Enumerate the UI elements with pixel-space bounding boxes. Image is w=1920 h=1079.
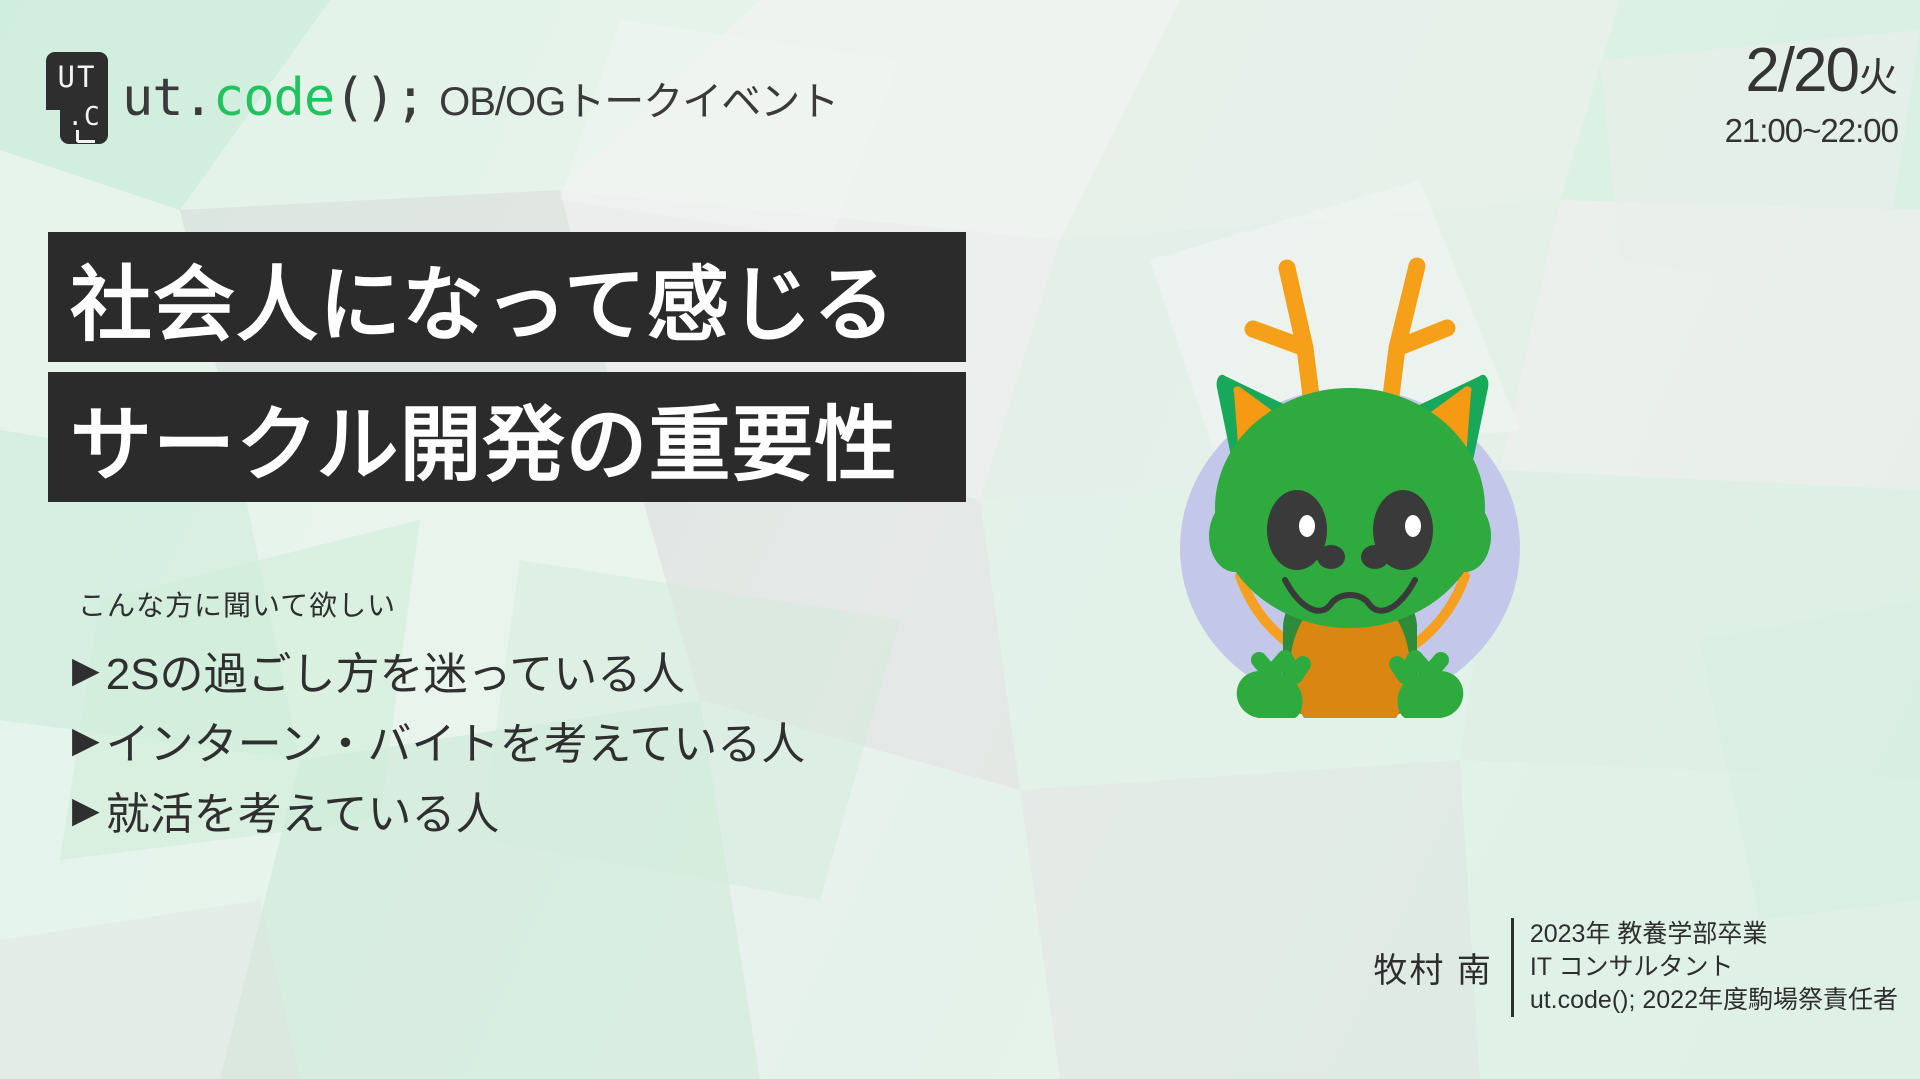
brand-name-accent: code	[213, 68, 334, 128]
speaker-divider	[1511, 918, 1514, 1017]
triangle-bullet-icon: ▶	[72, 652, 100, 688]
list-item: ▶ 就活を考えている人	[72, 778, 805, 842]
brand-title: ut. code (); OB/OGトークイベント	[122, 68, 838, 128]
brand-name-suffix: ();	[334, 68, 425, 128]
list-item: ▶ 2Sの過ごし方を迷っている人	[72, 638, 805, 702]
triangle-bullet-icon: ▶	[72, 792, 100, 828]
brand-name-prefix: ut.	[122, 68, 213, 128]
speaker-details: 2023年 教養学部卒業 IT コンサルタント ut.code(); 2022年…	[1530, 918, 1898, 1017]
speaker-name: 牧村 南	[1373, 943, 1510, 992]
title-line-2: サークル開発の重要性	[48, 372, 966, 502]
logo-tail-icon	[76, 130, 95, 143]
title-line-1: 社会人になって感じる	[48, 232, 966, 362]
speaker-detail-line: ut.code(); 2022年度駒場祭責任者	[1530, 984, 1898, 1017]
list-item: ▶ インターン・バイトを考えている人	[72, 708, 805, 772]
event-time: 21:00~22:00	[1725, 111, 1898, 151]
speaker-detail-line: IT コンサルタント	[1530, 951, 1898, 984]
speaker-detail-line: 2023年 教養学部卒業	[1530, 918, 1898, 951]
list-item-label: インターン・バイトを考えている人	[106, 708, 806, 772]
event-date-block: 2/20火 21:00~22:00	[1725, 38, 1898, 151]
dragon-mascot-icon	[1135, 198, 1555, 718]
audience-bullet-list: ▶ 2Sの過ごし方を迷っている人 ▶ インターン・バイトを考えている人 ▶ 就活…	[72, 638, 805, 842]
list-item-label: 就活を考えている人	[106, 778, 500, 842]
event-date-line: 2/20火	[1725, 38, 1898, 111]
brand-header: UT .C ut. code (); OB/OGトークイベント	[46, 52, 838, 144]
speaker-credit: 牧村 南 2023年 教養学部卒業 IT コンサルタント ut.code(); …	[1373, 918, 1898, 1017]
event-weekday: 火	[1858, 56, 1898, 100]
event-date: 2/20	[1745, 36, 1858, 105]
logo-text-ut: UT	[46, 55, 108, 99]
audience-lead-text: こんな方に聞いて欲しい	[78, 584, 396, 624]
event-poster: UT .C ut. code (); OB/OGトークイベント 2/20火 21…	[0, 0, 1920, 1079]
ut-code-logo-icon: UT .C	[46, 52, 108, 144]
list-item-label: 2Sの過ごし方を迷っている人	[106, 638, 686, 702]
triangle-bullet-icon: ▶	[72, 722, 100, 758]
event-type-label: OB/OGトークイベント	[439, 69, 838, 127]
